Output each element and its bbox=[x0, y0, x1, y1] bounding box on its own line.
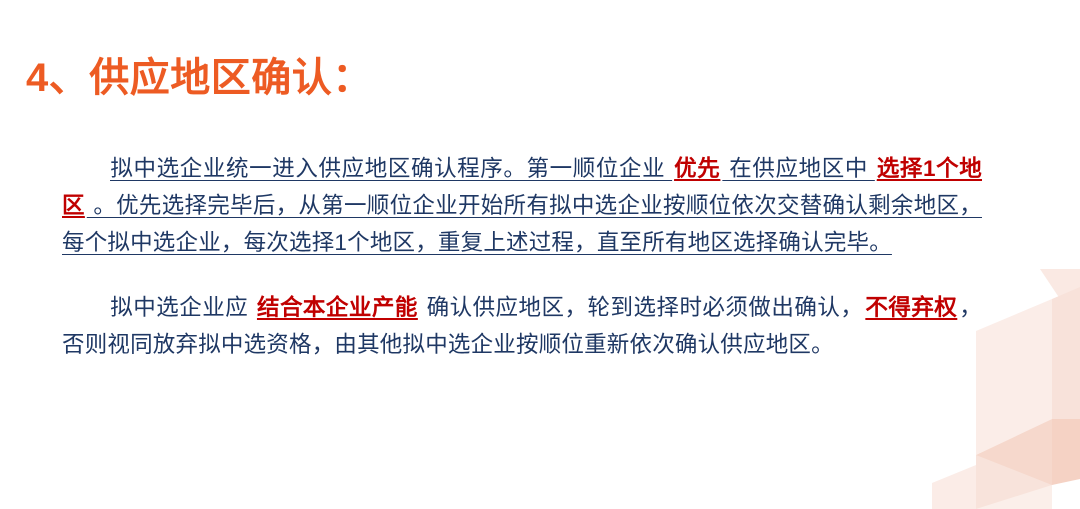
body-text: 在供应地区中 bbox=[722, 156, 874, 181]
paragraph-indent bbox=[62, 289, 110, 326]
body-text: 拟中选企业统一进入供应地区确认程序。第一顺位企业 bbox=[110, 156, 672, 181]
body-text: 拟中选企业应 bbox=[110, 295, 255, 320]
slide-body: 拟中选企业统一进入供应地区确认程序。第一顺位企业 优先 在供应地区中 选择1个地… bbox=[62, 150, 982, 363]
paragraph-1: 拟中选企业统一进入供应地区确认程序。第一顺位企业 优先 在供应地区中 选择1个地… bbox=[62, 150, 982, 261]
slide-canvas: 4、供应地区确认： 拟中选企业统一进入供应地区确认程序。第一顺位企业 优先 在供… bbox=[0, 0, 1080, 509]
paragraph-indent bbox=[62, 150, 110, 187]
page-title: 4、供应地区确认： bbox=[26, 55, 373, 101]
emphasis-text: 优先 bbox=[672, 156, 722, 181]
emphasis-text: 不得弃权 bbox=[863, 295, 959, 320]
body-text: 。优先选择完毕后，从第一顺位企业开始所有拟中选企业按顺位依次交替确认剩余地区，每… bbox=[62, 193, 982, 255]
emphasis-text: 结合本企业产能 bbox=[255, 295, 420, 320]
paragraph-2: 拟中选企业应 结合本企业产能 确认供应地区，轮到选择时必须做出确认，不得弃权，否… bbox=[62, 289, 982, 363]
body-text: 确认供应地区，轮到选择时必须做出确认， bbox=[420, 295, 863, 320]
